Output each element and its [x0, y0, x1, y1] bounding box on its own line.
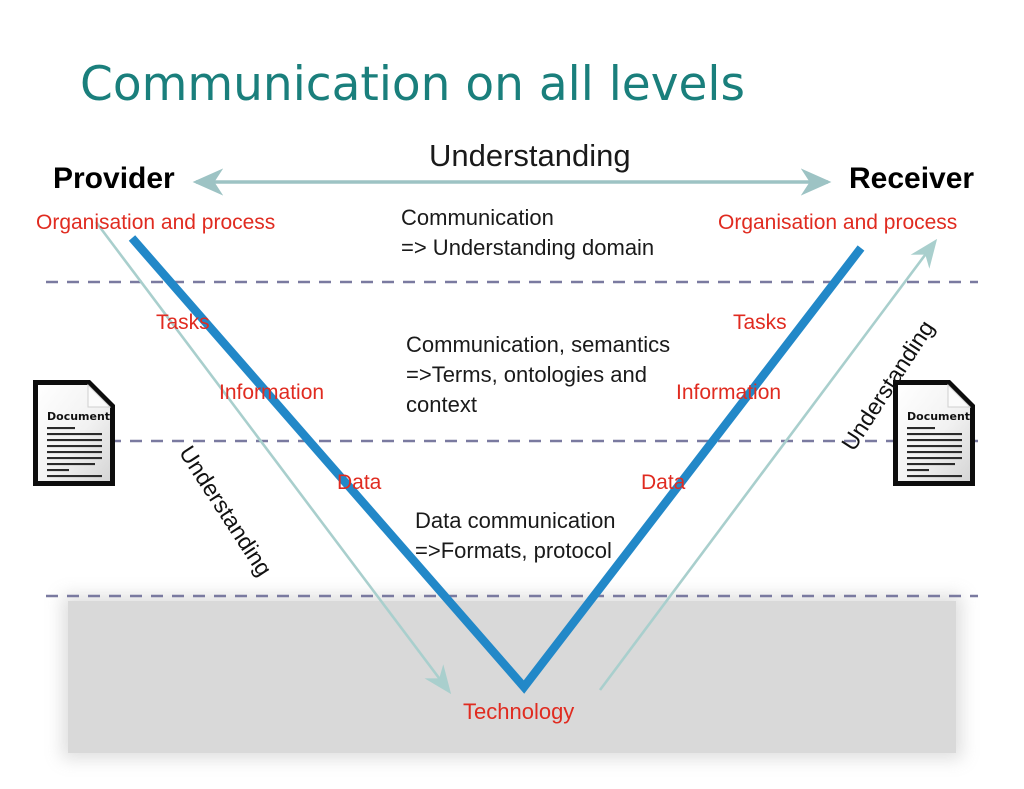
description-semantics: Communication, semantics =>Terms, ontolo…	[406, 330, 670, 420]
slide-canvas: Document Document	[0, 0, 1024, 789]
description-understanding-domain: Communication => Understanding domain	[401, 203, 654, 263]
layer-label-organisation-left: Organisation and process	[36, 211, 275, 235]
document-icon-right-heading: Document	[907, 410, 970, 423]
document-icon-right: Document	[888, 375, 980, 491]
layer-label-tasks-left: Tasks	[156, 311, 210, 335]
understanding-diagonal-left	[96, 222, 448, 690]
page-title: Communication on all levels	[80, 57, 745, 112]
layer-label-information-left: Information	[219, 381, 324, 405]
understanding-axis-label: Understanding	[429, 138, 631, 174]
provider-label: Provider	[53, 162, 175, 196]
layer-label-organisation-right: Organisation and process	[718, 211, 957, 235]
communication-v-path	[132, 238, 861, 687]
description-data-communication: Data communication =>Formats, protocol	[415, 506, 616, 566]
receiver-label: Receiver	[849, 162, 974, 196]
layer-label-tasks-right: Tasks	[733, 311, 787, 335]
layer-label-information-right: Information	[676, 381, 781, 405]
layer-label-technology: Technology	[463, 699, 574, 725]
document-icon-left: Document	[28, 375, 120, 491]
layer-label-data-left: Data	[337, 471, 381, 495]
layer-label-data-right: Data	[641, 471, 685, 495]
document-icon-left-heading: Document	[47, 410, 110, 423]
